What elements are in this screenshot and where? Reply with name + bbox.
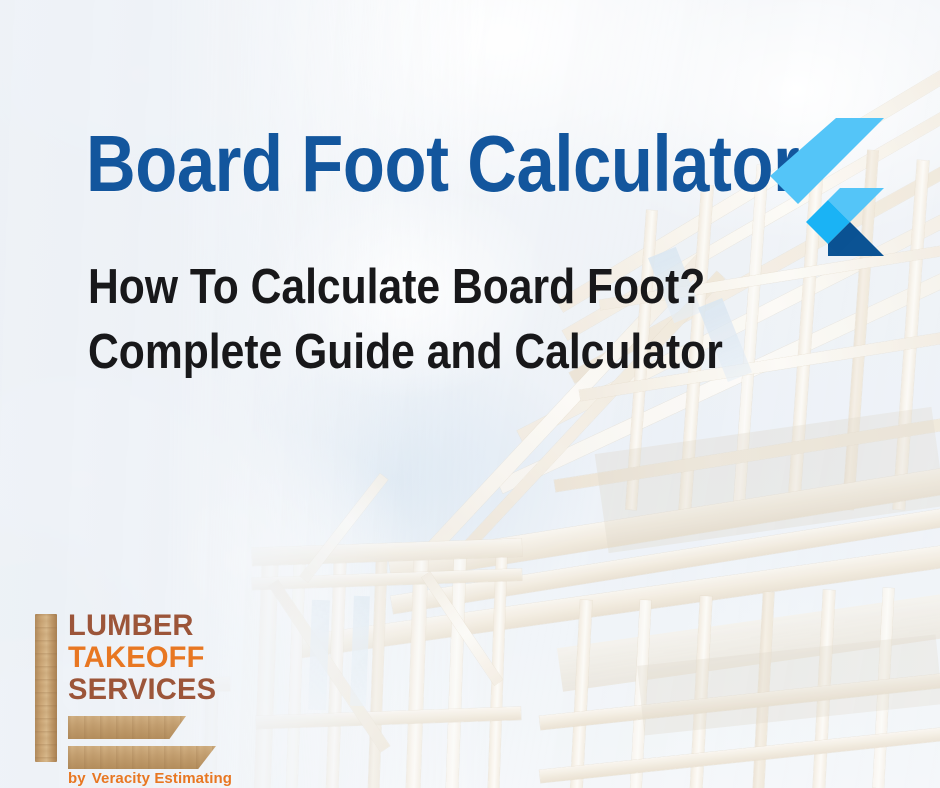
subtitle-line-1: How To Calculate Board Foot? [88, 255, 723, 320]
wood-plank-vertical-icon [35, 614, 57, 762]
subtitle-line-2: Complete Guide and Calculator [88, 320, 723, 385]
logo-word-takeoff: TAKEOFF [68, 642, 216, 674]
wood-board-icon [68, 746, 216, 769]
logo-tagline-text: Veracity Estimating [92, 770, 232, 787]
logo-tagline-prefix: by [68, 770, 86, 787]
wood-board-icon [68, 716, 186, 739]
banner: Board Foot Calculator How To Calculate B… [0, 0, 940, 788]
logo-word-services: SERVICES [68, 674, 216, 706]
logo-wordmark: LUMBER TAKEOFF SERVICES [68, 610, 221, 706]
flutter-logo [768, 116, 886, 258]
flutter-logo-icon [768, 116, 886, 258]
wall-stud [570, 600, 592, 788]
wall-stud [286, 556, 306, 788]
logo-word-lumber: LUMBER [68, 610, 216, 642]
sky-gap [308, 600, 330, 711]
sky-gap [350, 596, 370, 706]
lumber-takeoff-services-logo: LUMBER TAKEOFF SERVICES byVeracity Estim… [30, 606, 240, 778]
logo-tagline: byVeracity Estimating [68, 770, 232, 787]
page-title: Board Foot Calculator [86, 126, 799, 203]
page-subtitle: How To Calculate Board Foot? Complete Gu… [88, 255, 723, 385]
